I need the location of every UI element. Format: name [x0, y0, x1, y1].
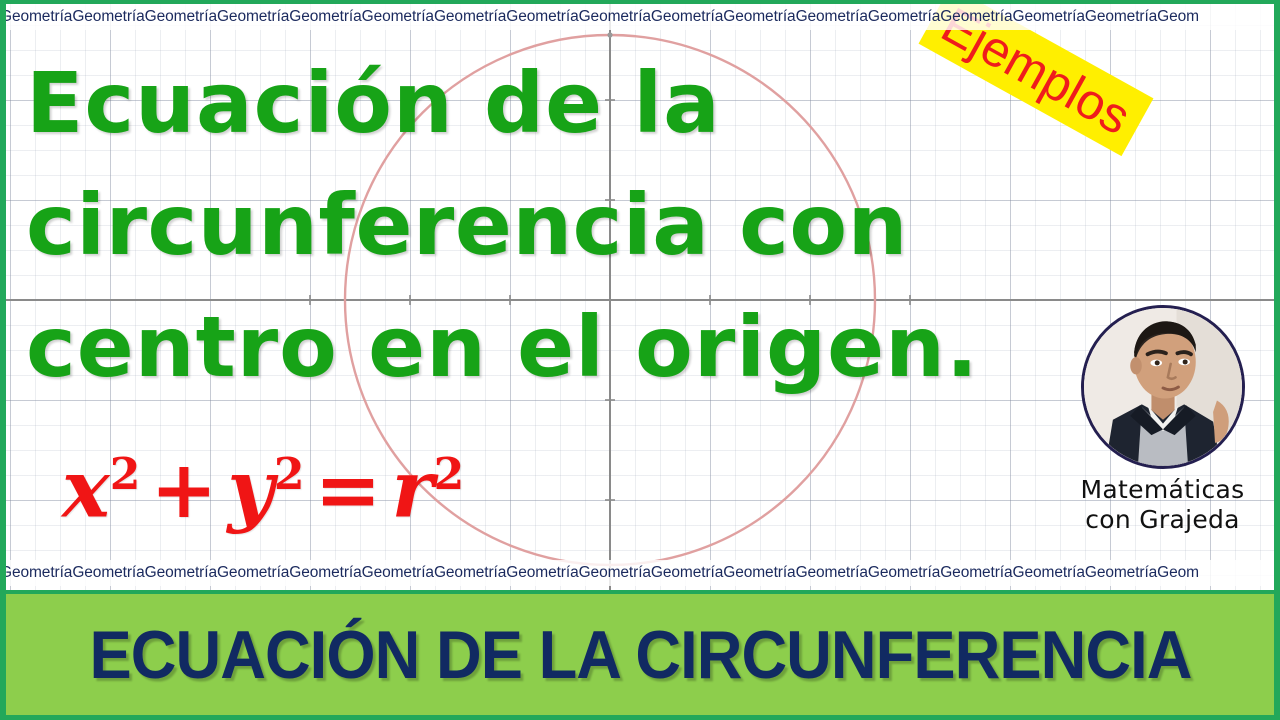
frame-top-border [0, 0, 1280, 4]
formula-y: y [227, 442, 273, 536]
formula-x-exponent: 2 [110, 449, 141, 500]
watermark-strip-top: GeometríaGeometríaGeometríaGeometríaGeom… [0, 4, 1280, 30]
formula-r-exponent: 2 [434, 449, 465, 500]
channel-branding: Matemáticas con Grajeda [1060, 305, 1265, 535]
formula-plus: + [140, 442, 227, 536]
bottom-title-text: ECUACIÓN DE LA CIRCUNFERENCIA [89, 621, 1191, 689]
headline-line-2: circunferencia con [26, 164, 1036, 286]
equation-formula: x2+y2=r2 [62, 430, 464, 534]
frame-right-border [1274, 0, 1280, 592]
formula-y-exponent: 2 [274, 449, 305, 500]
avatar [1081, 305, 1245, 469]
thumbnail-canvas: GeometríaGeometríaGeometríaGeometríaGeom… [0, 0, 1280, 720]
frame-left-border [0, 0, 6, 592]
watermark-text-top: GeometríaGeometríaGeometríaGeometríaGeom… [0, 8, 1199, 25]
watermark-strip-bottom: GeometríaGeometríaGeometríaGeometríaGeom… [0, 560, 1280, 586]
circle-top-point [607, 32, 612, 37]
headline-line-1: Ecuación de la [26, 42, 1036, 164]
formula-x: x [62, 442, 110, 536]
headline-line-3: centro en el origen. [26, 286, 1036, 408]
bottom-title-bar: ECUACIÓN DE LA CIRCUNFERENCIA [0, 590, 1280, 720]
headline: Ecuación de la circunferencia con centro… [26, 42, 1036, 408]
avatar-portrait-icon [1084, 308, 1242, 466]
formula-equals: = [304, 442, 391, 536]
channel-name: Matemáticas con Grajeda [1060, 475, 1265, 535]
watermark-text-bottom: GeometríaGeometríaGeometríaGeometríaGeom… [0, 564, 1199, 581]
formula-r: r [392, 442, 434, 536]
